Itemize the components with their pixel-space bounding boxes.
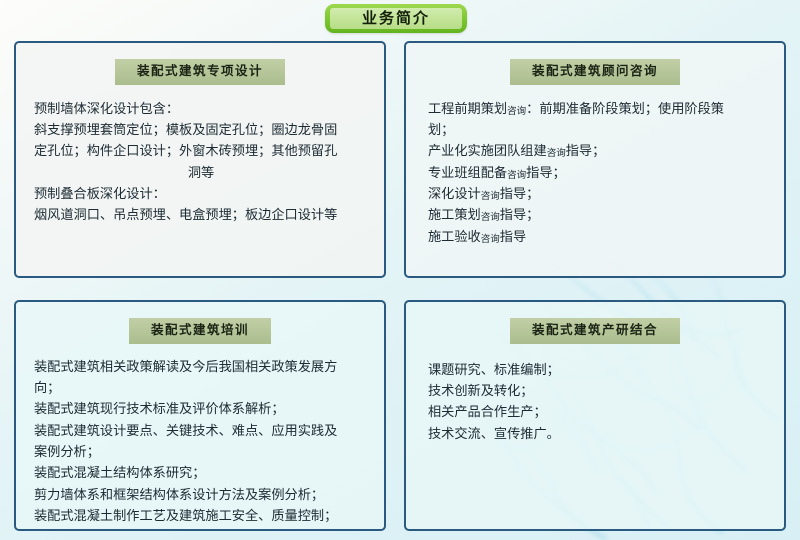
line-annotation: 咨询	[481, 191, 500, 202]
panel-special-design: 装配式建筑专项设计 预制墙体深化设计包含： 斜支撑预埋套筒定位；模板及固定孔位；…	[14, 41, 386, 278]
panel-text-line: 划；	[428, 120, 768, 141]
panel-label-industry-research: 装配式建筑产研结合	[510, 318, 680, 344]
line-tail: 指导；	[566, 144, 606, 159]
panel-label-special-design: 装配式建筑专项设计	[115, 59, 285, 85]
panel-text-line: 施工策划咨询指导；	[428, 205, 768, 226]
line-tail: 指导；	[500, 187, 540, 202]
line-main: 施工策划	[428, 208, 481, 223]
panel-text-line: 预制叠合板深化设计：	[34, 184, 368, 205]
panel-consulting: 装配式建筑顾问咨询 工程前期策划咨询：前期准备阶段策划；使用阶段策 划； 产业化…	[404, 41, 786, 278]
line-tail: 指导；	[500, 208, 540, 223]
panel-header: 装配式建筑专项设计	[16, 59, 384, 85]
panel-text-line: 技术交流、宣传推广。	[428, 424, 768, 445]
page-title: 业务简介	[330, 8, 462, 29]
panel-text-line: 施工验收咨询指导	[428, 227, 768, 248]
panel-body-industry-research: 课题研究、标准编制； 技术创新及转化； 相关产品合作生产； 技术交流、宣传推广。	[406, 344, 784, 446]
panel-grid: 装配式建筑专项设计 预制墙体深化设计包含： 斜支撑预埋套筒定位；模板及固定孔位；…	[14, 41, 786, 531]
page-title-badge: 业务简介	[325, 4, 467, 33]
line-annotation: 咨询	[507, 106, 526, 117]
panel-text-line: 深化设计咨询指导；	[428, 184, 768, 205]
panel-text-line: 产业化实施团队组建咨询指导；	[428, 141, 768, 162]
panel-text-line: 课题研究、标准编制；	[428, 360, 768, 381]
line-main: 产业化实施团队组建	[428, 144, 547, 159]
panel-text-line: 洞等	[34, 163, 368, 184]
panel-body-special-design: 预制墙体深化设计包含： 斜支撑预埋套筒定位；模板及固定孔位；圈边龙骨固 定孔位；…	[16, 85, 384, 227]
line-annotation: 咨询	[547, 148, 566, 159]
panel-label-consulting: 装配式建筑顾问咨询	[510, 59, 680, 85]
line-annotation: 咨询	[481, 212, 500, 223]
panel-body-training: 装配式建筑相关政策解读及今后我国相关政策发展方 向； 装配式建筑现行技术标准及评…	[16, 344, 384, 528]
panel-industry-research: 装配式建筑产研结合 课题研究、标准编制； 技术创新及转化； 相关产品合作生产； …	[404, 300, 786, 531]
line-tail: 指导；	[526, 166, 566, 181]
panel-text-line: 技术创新及转化；	[428, 381, 768, 402]
panel-text-line: 装配式建筑设计要点、关键技术、难点、应用实践及	[34, 421, 368, 442]
panel-header: 装配式建筑顾问咨询	[406, 59, 784, 85]
panel-text-line: 定孔位；构件企口设计；外窗木砖预埋；其他预留孔	[34, 141, 368, 162]
panel-text-line: 案例分析；	[34, 442, 368, 463]
panel-text-line: 剪力墙体系和框架结构体系设计方法及案例分析；	[34, 485, 368, 506]
panel-text-line: 斜支撑预埋套筒定位；模板及固定孔位；圈边龙骨固	[34, 120, 368, 141]
panel-header: 装配式建筑培训	[16, 318, 384, 344]
panel-text-line: 装配式建筑现行技术标准及评价体系解析；	[34, 399, 368, 420]
panel-text-line: 相关产品合作生产；	[428, 402, 768, 423]
line-main: 专业班组配备	[428, 166, 507, 181]
panel-text-line: 向；	[34, 378, 368, 399]
panel-label-training: 装配式建筑培训	[129, 318, 271, 344]
panel-text-line: 烟风道洞口、吊点预埋、电盒预埋；板边企口设计等	[34, 205, 368, 226]
line-main: 深化设计	[428, 187, 481, 202]
panel-text-line: 装配式建筑相关政策解读及今后我国相关政策发展方	[34, 357, 368, 378]
panel-text-line: 预制墙体深化设计包含：	[34, 99, 368, 120]
panel-training: 装配式建筑培训 装配式建筑相关政策解读及今后我国相关政策发展方 向； 装配式建筑…	[14, 300, 386, 531]
panel-text-line: 装配式混凝土制作工艺及建筑施工安全、质量控制；	[34, 506, 368, 527]
panel-text-line: 工程前期策划咨询：前期准备阶段策划；使用阶段策	[428, 99, 768, 120]
line-annotation: 咨询	[507, 170, 526, 181]
panel-text-line: 装配式混凝土结构体系研究；	[34, 463, 368, 484]
line-main: 施工验收	[428, 230, 481, 245]
line-tail: ：前期准备阶段策划；使用阶段策	[526, 102, 724, 117]
line-annotation: 咨询	[481, 234, 500, 245]
panel-text-line: 专业班组配备咨询指导；	[428, 163, 768, 184]
panel-header: 装配式建筑产研结合	[406, 318, 784, 344]
line-main: 工程前期策划	[428, 102, 507, 117]
line-tail: 指导	[500, 230, 526, 245]
panel-body-consulting: 工程前期策划咨询：前期准备阶段策划；使用阶段策 划； 产业化实施团队组建咨询指导…	[406, 85, 784, 249]
